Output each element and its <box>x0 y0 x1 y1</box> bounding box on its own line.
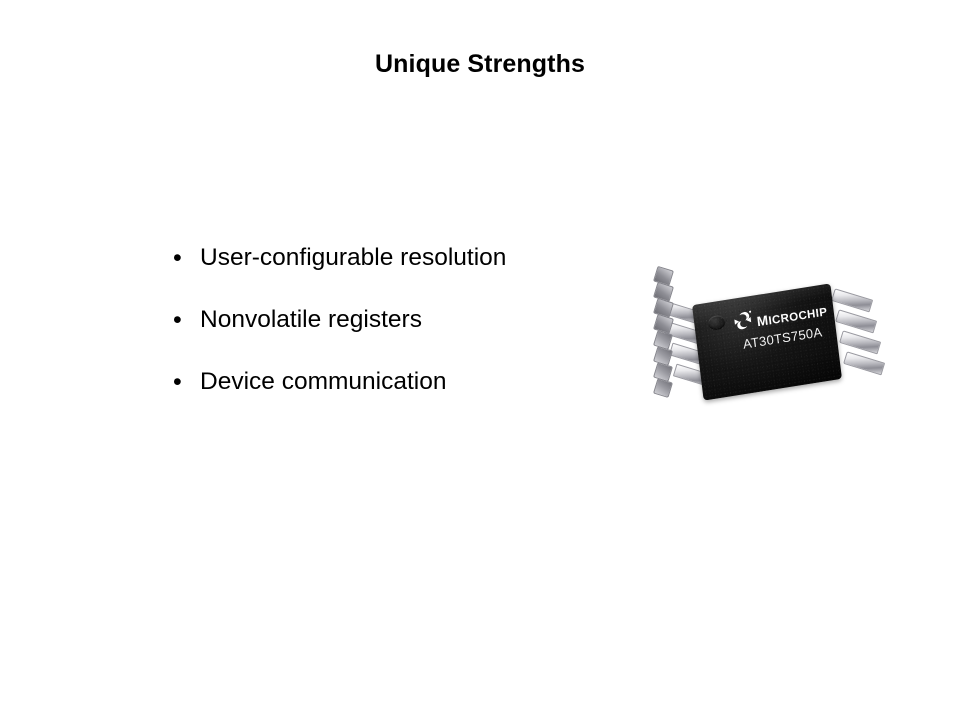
bullet-marker-icon: • <box>168 367 200 397</box>
bullet-text-device-communication: Device communication <box>200 367 446 397</box>
bullet-list: • User-configurable resolution • Nonvola… <box>168 243 638 429</box>
chip-body: MICROCHIP AT30TS750A <box>692 283 842 400</box>
list-item: • User-configurable resolution <box>168 243 638 305</box>
chip-lead-right-1 <box>831 288 873 312</box>
list-item: • Device communication <box>168 367 638 429</box>
microchip-logo-icon <box>732 309 755 333</box>
page-title: Unique Strengths <box>0 50 960 79</box>
chip-marking: MICROCHIP AT30TS750A <box>727 296 835 354</box>
product-image-ic-package: MICROCHIP AT30TS750A <box>655 268 890 423</box>
slide-canvas: Unique Strengths • User-configurable res… <box>0 0 960 720</box>
chip-stage: MICROCHIP AT30TS750A <box>655 268 890 423</box>
chip-lead-right-4-knee <box>653 378 673 398</box>
bullet-text-user-configurable-resolution: User-configurable resolution <box>200 243 506 273</box>
chip-lead-right-4 <box>843 351 885 375</box>
bullet-marker-icon: • <box>168 243 200 273</box>
list-item: • Nonvolatile registers <box>168 305 638 367</box>
chip-lead-right-3 <box>839 330 881 354</box>
pin-1-dimple-icon <box>708 314 726 331</box>
bullet-text-nonvolatile-registers: Nonvolatile registers <box>200 305 422 335</box>
bullet-marker-icon: • <box>168 305 200 335</box>
chip-lead-right-2 <box>835 309 877 333</box>
